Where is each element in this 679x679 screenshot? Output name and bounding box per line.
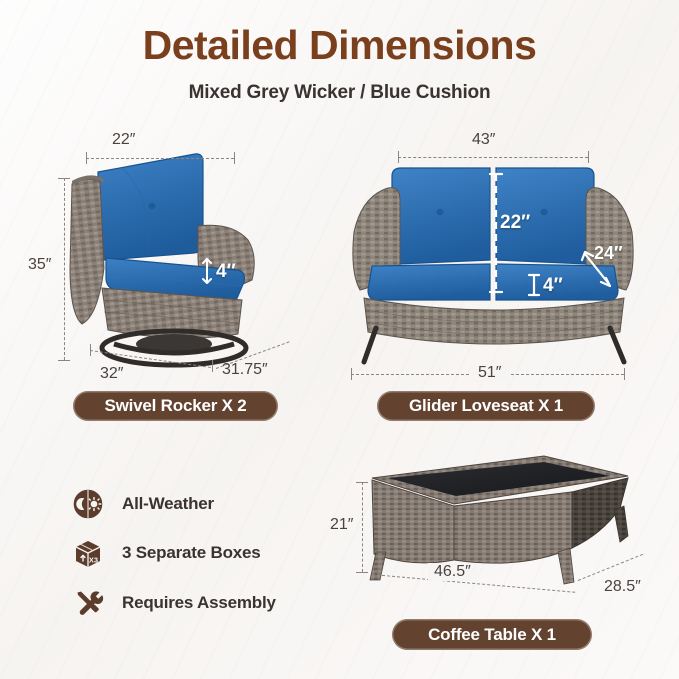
rocker-cushion-arrow-icon bbox=[200, 258, 214, 284]
rocker-width-tick-left bbox=[86, 152, 87, 164]
loveseat-width-dimension-line bbox=[398, 157, 588, 158]
table-width-label: 46.5″ bbox=[428, 563, 477, 581]
label-glider-loveseat-text: Glider Loveseat X 1 bbox=[409, 396, 563, 416]
feature-three-boxes: X3 3 Separate Boxes bbox=[72, 537, 261, 569]
rocker-width-dimension-line bbox=[86, 158, 234, 159]
feature-requires-assembly-label: Requires Assembly bbox=[122, 593, 276, 613]
loveseat-cushion-thickness-label: 4″ bbox=[543, 275, 563, 297]
coffee-table-image bbox=[358, 448, 638, 593]
table-depth-label: 28.5″ bbox=[604, 578, 641, 596]
table-height-tick-bottom bbox=[356, 572, 368, 573]
rocker-height-tick-top bbox=[58, 178, 70, 179]
feature-all-weather: All-Weather bbox=[72, 488, 214, 520]
feature-all-weather-label: All-Weather bbox=[122, 494, 214, 514]
rocker-width-tick-right bbox=[234, 152, 235, 164]
swivel-rocker-image bbox=[62, 148, 282, 373]
loveseat-depth-label: 24″ bbox=[594, 243, 623, 264]
page-title: Detailed Dimensions bbox=[0, 22, 679, 69]
loveseat-width-label: 43″ bbox=[472, 131, 495, 149]
loveseat-bottom-tick-left bbox=[351, 368, 352, 380]
three-boxes-icon: X3 bbox=[72, 537, 104, 569]
label-glider-loveseat: Glider Loveseat X 1 bbox=[377, 391, 595, 421]
loveseat-width-tick-right bbox=[588, 151, 589, 163]
rocker-width-label: 22″ bbox=[112, 131, 135, 149]
feature-three-boxes-label: 3 Separate Boxes bbox=[122, 543, 261, 563]
feature-requires-assembly: Requires Assembly bbox=[72, 587, 276, 619]
table-height-dimension-line bbox=[362, 482, 363, 572]
rocker-side-depth-label: 31.75″ bbox=[222, 361, 268, 379]
rocker-cushion-thickness-label: 4″ bbox=[216, 261, 236, 283]
label-coffee-table: Coffee Table X 1 bbox=[392, 619, 592, 650]
svg-text:X3: X3 bbox=[89, 556, 98, 565]
infographic-canvas: Detailed Dimensions Mixed Grey Wicker / … bbox=[0, 0, 679, 679]
rocker-height-dimension-line bbox=[64, 178, 65, 360]
label-swivel-rocker-text: Swivel Rocker X 2 bbox=[104, 396, 246, 416]
page-subtitle: Mixed Grey Wicker / Blue Cushion bbox=[0, 82, 679, 104]
loveseat-width-tick-left bbox=[398, 151, 399, 163]
rocker-front-depth-tick-left bbox=[90, 344, 91, 356]
all-weather-icon bbox=[72, 488, 104, 520]
rocker-height-label: 35″ bbox=[28, 256, 51, 274]
label-coffee-table-text: Coffee Table X 1 bbox=[428, 625, 556, 645]
label-swivel-rocker: Swivel Rocker X 2 bbox=[73, 391, 278, 421]
loveseat-back-height-label: 22″ bbox=[500, 212, 530, 234]
loveseat-cushion-arrow-icon bbox=[527, 272, 541, 298]
loveseat-bottom-tick-right bbox=[624, 368, 625, 380]
rocker-height-tick-bottom bbox=[58, 360, 70, 361]
rocker-front-depth-tick-right bbox=[212, 360, 213, 372]
tools-icon bbox=[72, 587, 104, 619]
rocker-front-depth-label: 32″ bbox=[100, 365, 123, 383]
table-height-tick-top bbox=[356, 482, 368, 483]
table-height-label: 21″ bbox=[330, 516, 353, 534]
loveseat-bottom-width-label: 51″ bbox=[470, 364, 509, 382]
